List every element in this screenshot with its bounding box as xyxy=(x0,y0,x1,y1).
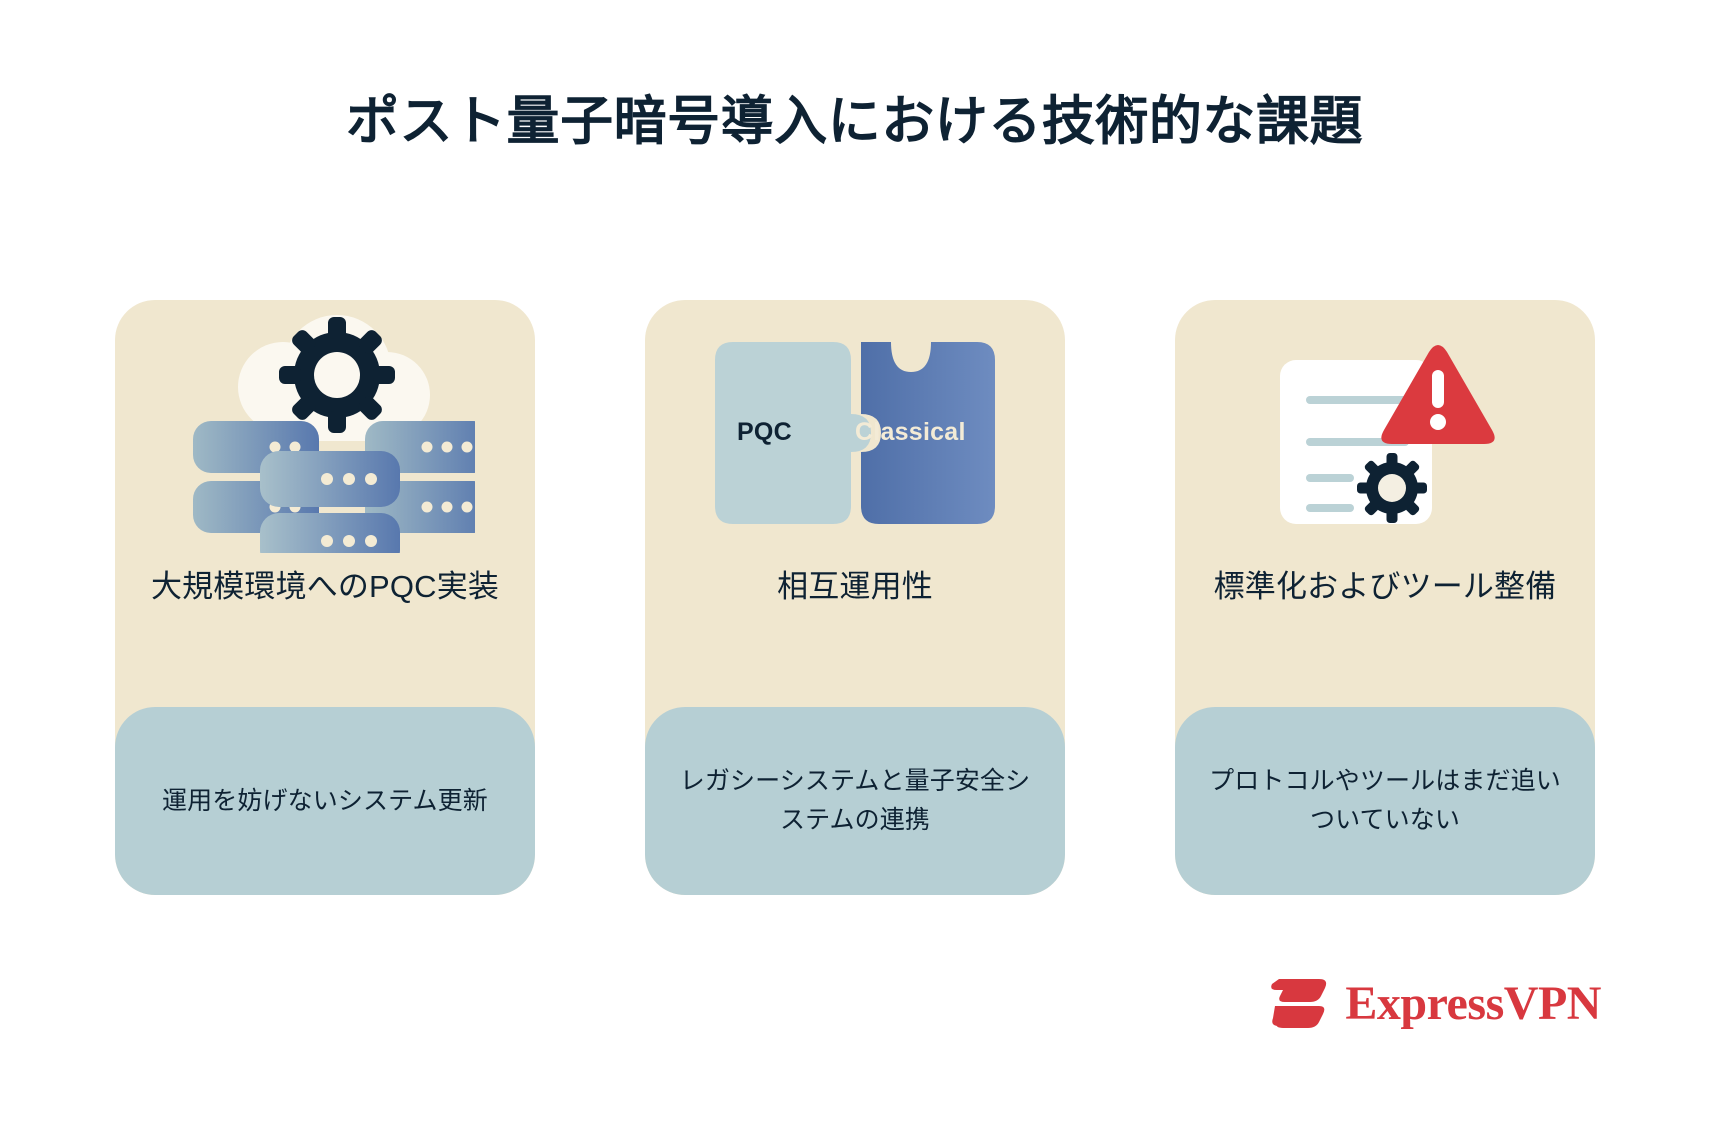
expressvpn-logo: ExpressVPN xyxy=(1267,975,1601,1033)
card-body-text: 運用を妨げないシステム更新 xyxy=(162,782,488,821)
card-title: 大規模環境へのPQC実装 xyxy=(121,565,529,609)
card-body-text: レガシーシステムと量子安全システムの連携 xyxy=(675,762,1035,840)
puzzle-svg xyxy=(695,338,1015,528)
icon-container: PQC Classical xyxy=(645,300,1065,565)
card-title: 相互運用性 xyxy=(747,565,963,609)
card-top-section: 大規模環境へのPQC実装 xyxy=(115,300,535,707)
page-title: ポスト量子暗号導入における技術的な課題 xyxy=(0,90,1709,154)
puzzle-pieces-icon: PQC Classical xyxy=(695,338,1015,528)
card-title: 標準化およびツール整備 xyxy=(1184,565,1587,609)
document-warning-gear-icon xyxy=(1270,338,1500,528)
puzzle-piece-pqc xyxy=(715,342,871,524)
card-top-section: 標準化およびツール整備 xyxy=(1175,300,1595,707)
card-bottom-section: 運用を妨げないシステム更新 xyxy=(115,707,535,895)
cloud-servers-gear-icon xyxy=(175,313,475,553)
icon-container xyxy=(115,300,535,565)
puzzle-piece-classical xyxy=(861,342,995,524)
card-standardization: 標準化およびツール整備 プロトコルやツールはまだ追いついていない xyxy=(1175,300,1595,895)
card-interoperability: PQC Classical 相互運用性 レガシーシステムと量子安全システムの連携 xyxy=(645,300,1065,895)
card-body-text: プロトコルやツールはまだ追いついていない xyxy=(1205,762,1565,840)
expressvpn-logomark-icon xyxy=(1267,975,1329,1033)
card-top-section: PQC Classical 相互運用性 xyxy=(645,300,1065,707)
slide-canvas: ポスト量子暗号導入における技術的な課題 xyxy=(0,0,1709,1121)
card-scalability: 大規模環境へのPQC実装 運用を妨げないシステム更新 xyxy=(115,300,535,895)
icon-container xyxy=(1175,300,1595,565)
card-bottom-section: レガシーシステムと量子安全システムの連携 xyxy=(645,707,1065,895)
card-bottom-section: プロトコルやツールはまだ追いついていない xyxy=(1175,707,1595,895)
cards-row: 大規模環境へのPQC実装 運用を妨げないシステム更新 xyxy=(115,300,1595,895)
expressvpn-wordmark: ExpressVPN xyxy=(1345,980,1601,1028)
